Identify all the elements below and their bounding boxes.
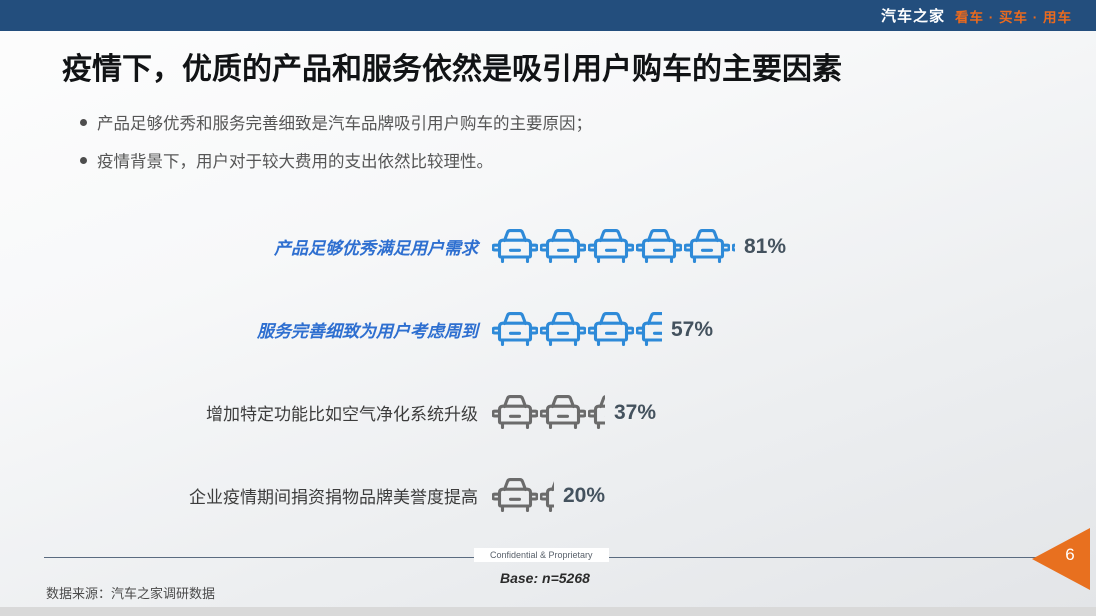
chart-row-icons <box>492 391 607 435</box>
car-front-icon <box>492 475 538 517</box>
car-front-icon <box>492 392 538 434</box>
chart-row-label: 服务完善细致为用户考虑周到 <box>0 317 492 342</box>
page-title: 疫情下，优质的产品和服务依然是吸引用户购车的主要因素 <box>62 44 1062 88</box>
chart-row-icons <box>492 225 737 269</box>
bullet-list: 产品足够优秀和服务完善细致是汽车品牌吸引用户购车的主要原因； 疫情背景下，用户对… <box>80 110 980 186</box>
chart-row-icons <box>492 474 556 518</box>
brand-name: 汽车之家 <box>881 5 945 26</box>
car-front-icon <box>540 226 586 268</box>
base-note: Base: n=5268 <box>500 570 590 586</box>
chart-row-icons <box>492 308 664 352</box>
car-front-icon <box>684 226 730 268</box>
car-front-icon-partial <box>540 475 554 517</box>
list-item: 疫情背景下，用户对于较大费用的支出依然比较理性。 <box>80 148 980 172</box>
bullet-dot-icon <box>80 119 87 126</box>
car-front-icon-partial <box>732 226 735 268</box>
bullet-dot-icon <box>80 157 87 164</box>
chart-row: 产品足够优秀满足用户需求81% <box>0 205 1096 288</box>
car-front-icon <box>636 226 682 268</box>
chart-row-label: 企业疫情期间捐资捐物品牌美誉度提高 <box>0 483 492 508</box>
chart-row-value: 20% <box>563 484 605 508</box>
pictogram-chart: 产品足够优秀满足用户需求81%服务完善细致为用户考虑周到57%增加特定功能比如空… <box>0 205 1096 537</box>
car-front-icon <box>540 309 586 351</box>
car-front-icon-partial <box>636 309 662 351</box>
chart-row: 增加特定功能比如空气净化系统升级37% <box>0 371 1096 454</box>
car-front-icon <box>492 309 538 351</box>
bullet-text: 疫情背景下，用户对于较大费用的支出依然比较理性。 <box>97 148 493 172</box>
bullet-text: 产品足够优秀和服务完善细致是汽车品牌吸引用户购车的主要原因； <box>97 110 592 134</box>
chart-row-value: 57% <box>671 318 713 342</box>
data-source-note: 数据来源：汽车之家调研数据 <box>46 583 215 602</box>
car-front-icon <box>540 392 586 434</box>
chart-row: 企业疫情期间捐资捐物品牌美誉度提高20% <box>0 454 1096 537</box>
list-item: 产品足够优秀和服务完善细致是汽车品牌吸引用户购车的主要原因； <box>80 110 980 134</box>
brand-header-bar: 汽车之家 看车 · 买车 · 用车 <box>0 0 1096 31</box>
page-number-badge: 6 <box>1032 528 1096 590</box>
brand-tagline: 看车 · 买车 · 用车 <box>955 6 1072 26</box>
chart-row-label: 产品足够优秀满足用户需求 <box>0 234 492 259</box>
car-front-icon <box>588 309 634 351</box>
car-front-icon-partial <box>588 392 605 434</box>
page-number: 6 <box>1058 545 1082 565</box>
slide: 汽车之家 看车 · 买车 · 用车 疫情下，优质的产品和服务依然是吸引用户购车的… <box>0 0 1096 607</box>
car-front-icon <box>492 226 538 268</box>
slide-bottom-margin <box>0 607 1096 616</box>
chart-row-value: 37% <box>614 401 656 425</box>
car-front-icon <box>588 226 634 268</box>
chart-row-label: 增加特定功能比如空气净化系统升级 <box>0 400 492 425</box>
confidential-note: Confidential & Proprietary <box>474 548 609 562</box>
chart-row: 服务完善细致为用户考虑周到57% <box>0 288 1096 371</box>
chart-row-value: 81% <box>744 235 786 259</box>
